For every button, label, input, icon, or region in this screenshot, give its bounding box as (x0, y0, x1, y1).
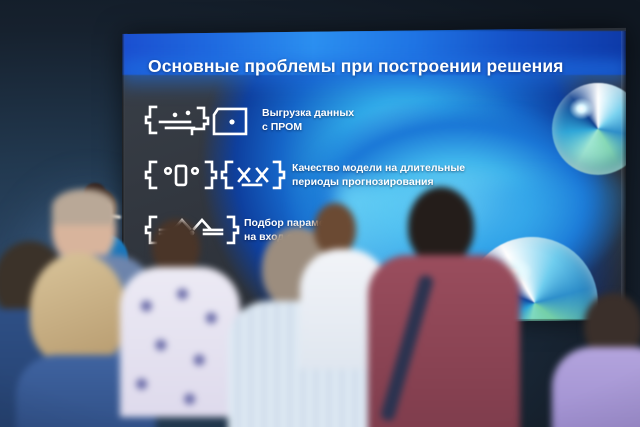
torso (120, 267, 240, 417)
slide-bullet-item: Качество модели на длительные периоды пр… (144, 158, 564, 192)
slide-bullet-item: Выгрузка данных с ПРОМ (144, 103, 564, 137)
kaomoji-robot-document-icon (144, 103, 262, 137)
audience-foreground (0, 197, 640, 427)
head (30, 253, 126, 365)
bullet-line: Качество модели на длительные (292, 161, 465, 175)
kaomoji-surprised-dead-icon (144, 158, 292, 192)
head (408, 187, 474, 265)
head (314, 203, 356, 255)
screenshot-stage: Основные проблемы при построении решения (0, 0, 640, 427)
bullet-line: Выгрузка данных (262, 106, 354, 120)
slide-bullet-text: Качество модели на длительные периоды пр… (292, 161, 465, 189)
slide-title: Основные проблемы при построении решения (148, 56, 564, 77)
hair (52, 189, 116, 225)
torso (552, 347, 640, 427)
bullet-line: с ПРОМ (262, 120, 354, 134)
slide-bullet-text: Выгрузка данных с ПРОМ (262, 106, 354, 134)
